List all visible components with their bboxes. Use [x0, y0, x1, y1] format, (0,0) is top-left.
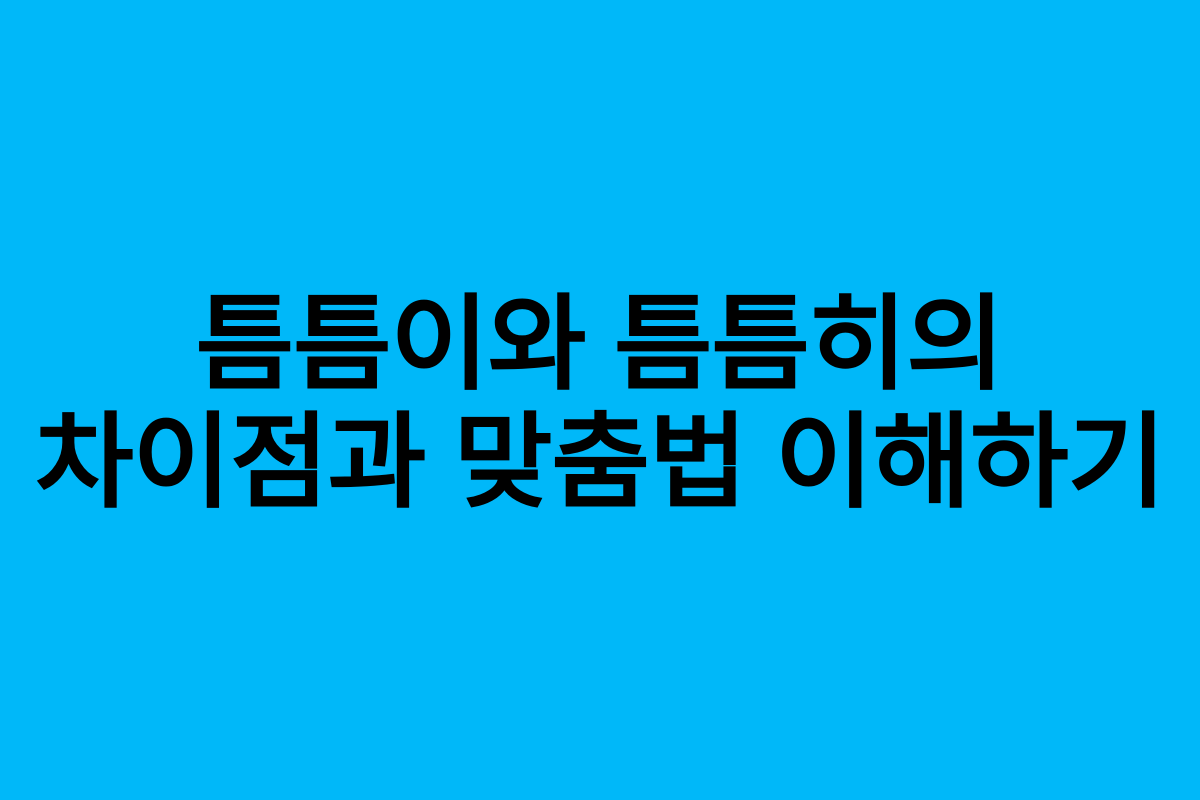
- title-line-2: 차이점과 맞춤법 이해하기: [35, 411, 1165, 515]
- title-line-1: 틈틈이와 틈틈히의: [196, 293, 1004, 397]
- title-block: 틈틈이와 틈틈히의 차이점과 맞춤법 이해하기: [0, 293, 1200, 515]
- banner-canvas: 틈틈이와 틈틈히의 차이점과 맞춤법 이해하기: [0, 0, 1200, 800]
